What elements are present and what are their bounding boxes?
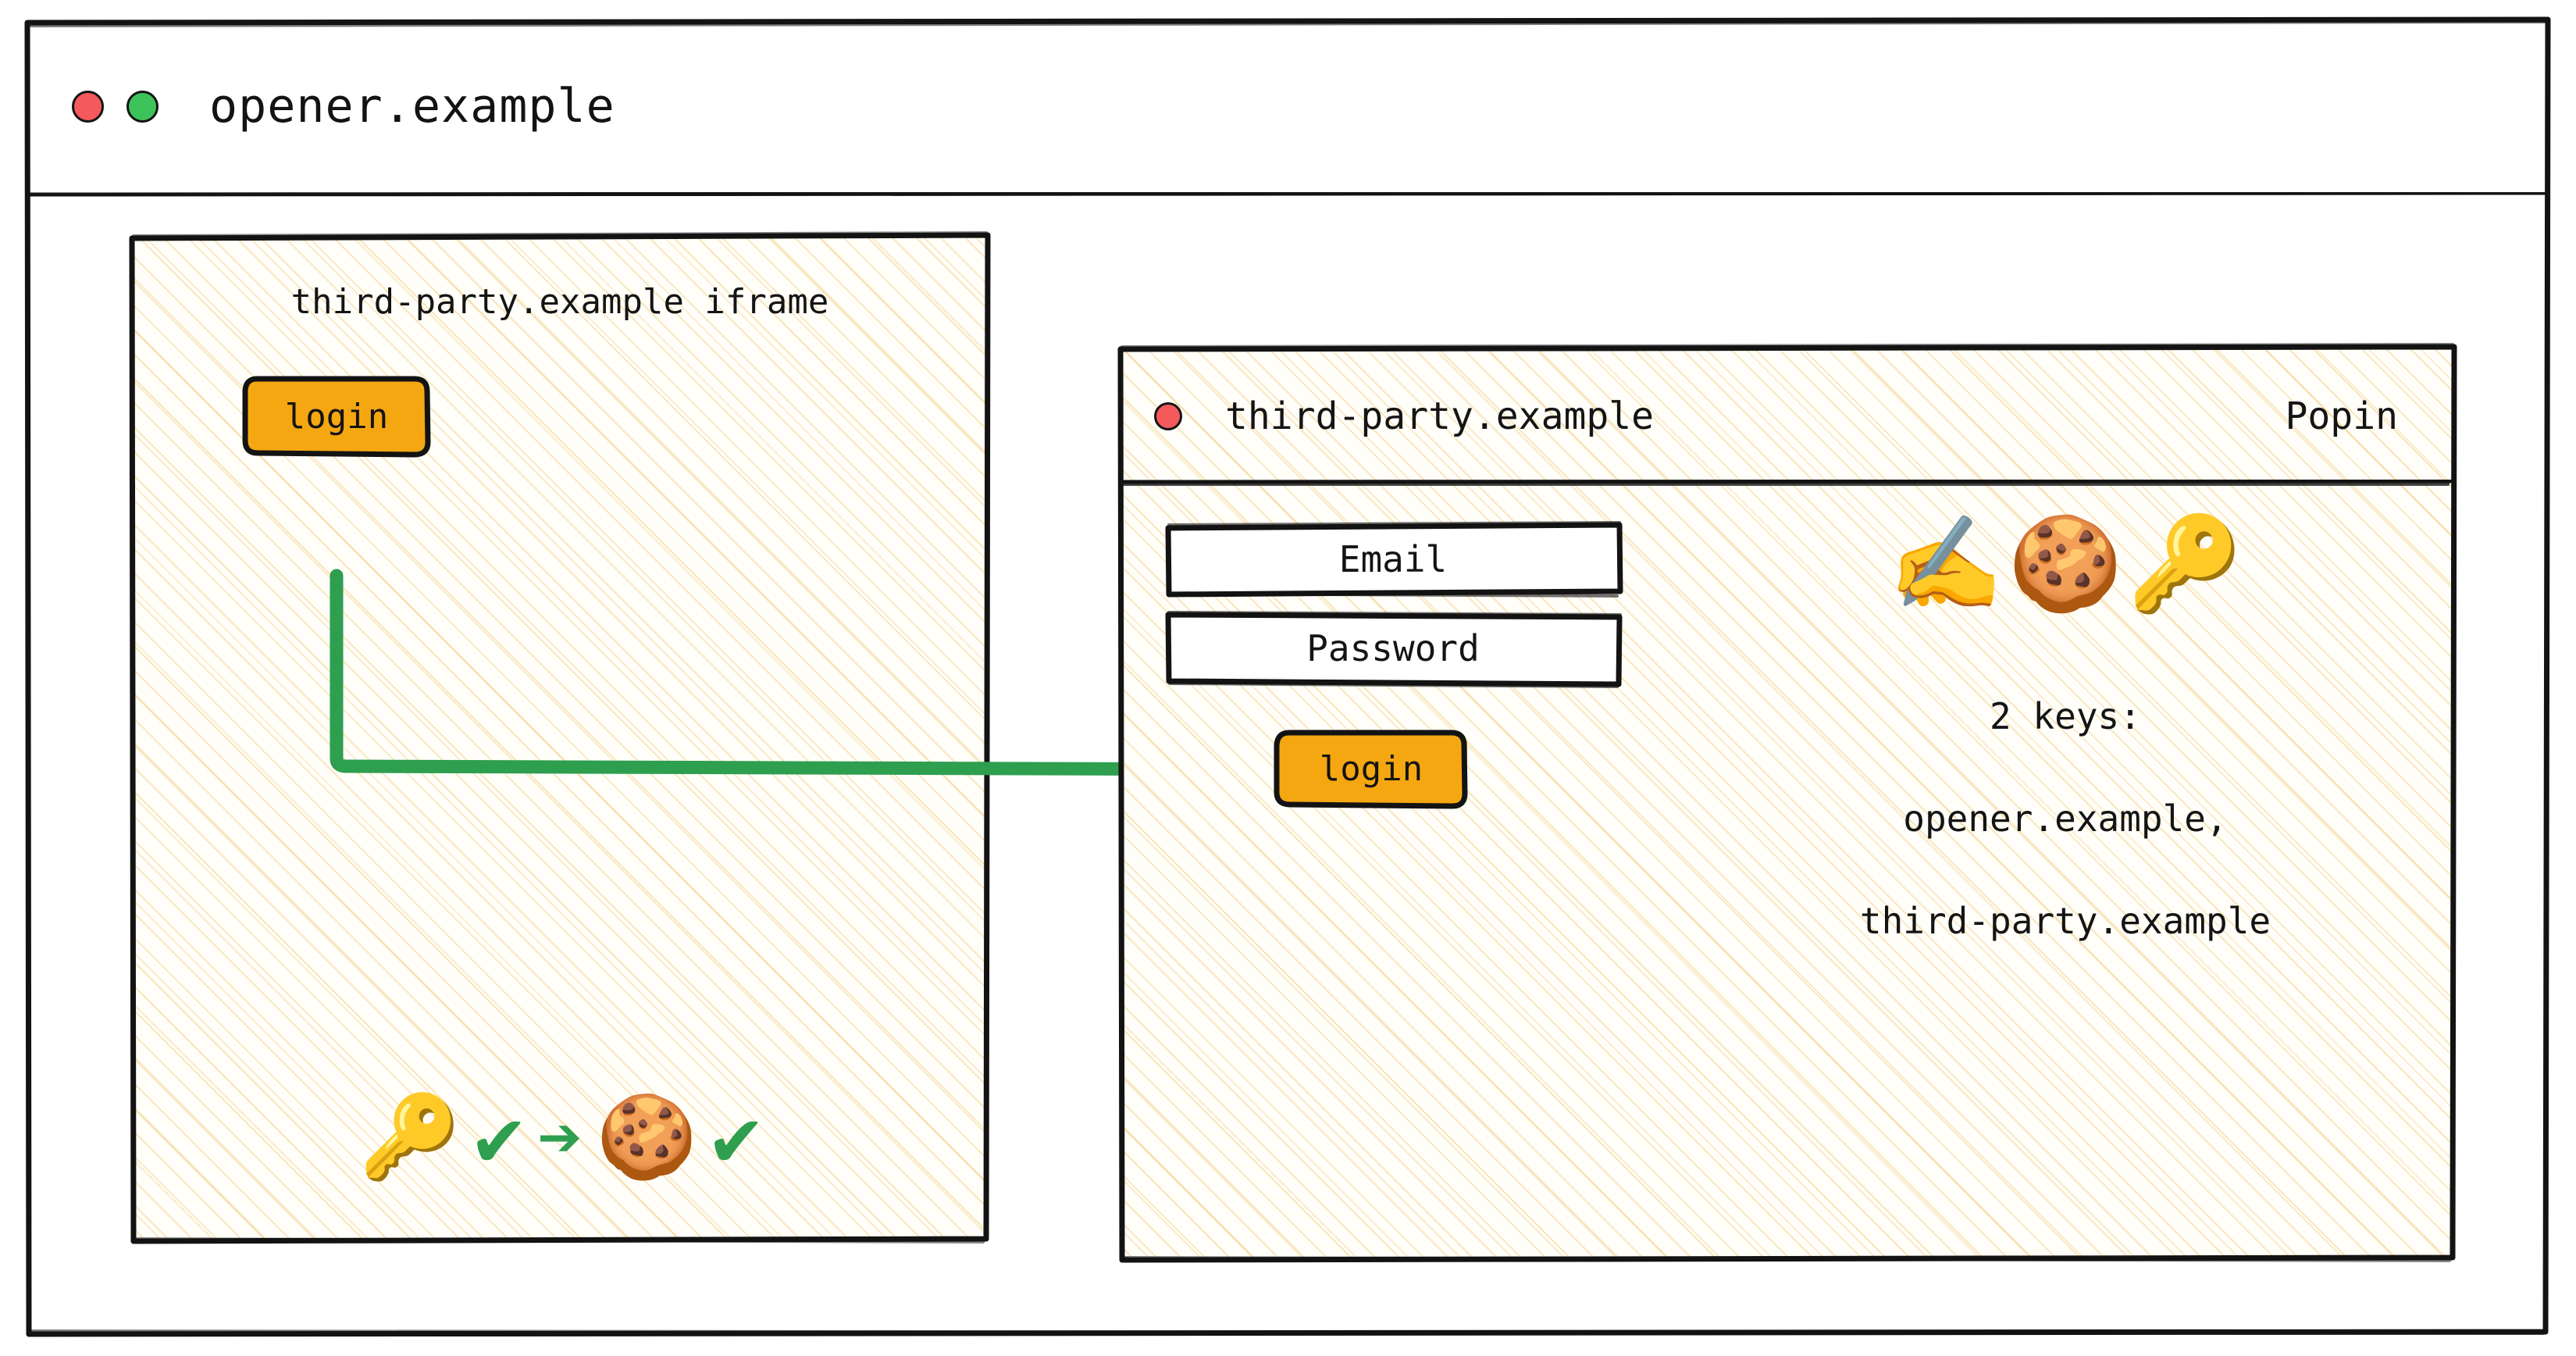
storage-arrow-icon: ➔ [537,1099,583,1174]
cookie-emoji-icon: 🍪 [2008,517,2123,609]
popup-body: Email Password login [1121,486,2454,1257]
cookie-allowed-check-icon: ✔ [711,1096,761,1177]
password-field-label: Password [1306,627,1480,669]
iframe-storage-row: 🔑 ✔ ➔ 🍪 ✔ [132,1096,988,1177]
keys-caption: 2 keys: opener.example, third-party.exam… [1860,641,2271,997]
cookie-emoji-icon: 🍪 [597,1096,698,1177]
keys-caption-line-2: opener.example, [1860,794,2271,844]
window-controls [72,91,159,123]
popup-kind-label: Popin [2286,394,2399,438]
popup-titlebar: third-party.example Popin [1121,348,2454,484]
popup-login-button[interactable]: login [1275,731,1467,806]
popup-emoji-row: ✍️ 🍪 🔑 [1889,517,2243,609]
third-party-iframe-panel: third-party.example iframe login 🔑 ✔ ➔ 🍪… [132,237,988,1238]
key-emoji-icon: 🔑 [2127,517,2242,609]
key-allowed-check-icon: ✔ [474,1096,523,1177]
minimize-window-button[interactable] [126,91,159,123]
close-window-button[interactable] [72,91,104,123]
key-emoji-icon: 🔑 [359,1096,461,1177]
iframe-login-button-label: login [285,397,388,437]
popup-keys-column: ✍️ 🍪 🔑 2 keys: opener.example, third-par… [1714,517,2417,997]
browser-window: opener.example third-party.example ifram… [26,20,2546,1332]
popup-login-form: Email Password login [1167,526,1636,705]
popup-window: third-party.example Popin Email [1121,348,2454,1257]
popup-origin-label: third-party.example [1225,394,1654,438]
iframe-login-button[interactable]: login [244,377,429,455]
iframe-panel-title: third-party.example iframe [132,282,988,322]
keys-caption-line-3: third-party.example [1860,896,2271,947]
email-field-label: Email [1339,538,1447,580]
keys-caption-line-1: 2 keys: [1860,691,2271,742]
popup-close-button[interactable] [1154,402,1182,430]
popup-login-button-label: login [1320,749,1423,789]
window-title: opener.example [209,79,615,134]
window-titlebar: opener.example [26,20,2546,193]
writing-hand-emoji-icon: ✍️ [1889,517,2004,609]
password-field[interactable]: Password [1167,616,1619,681]
email-field[interactable]: Email [1167,526,1619,592]
